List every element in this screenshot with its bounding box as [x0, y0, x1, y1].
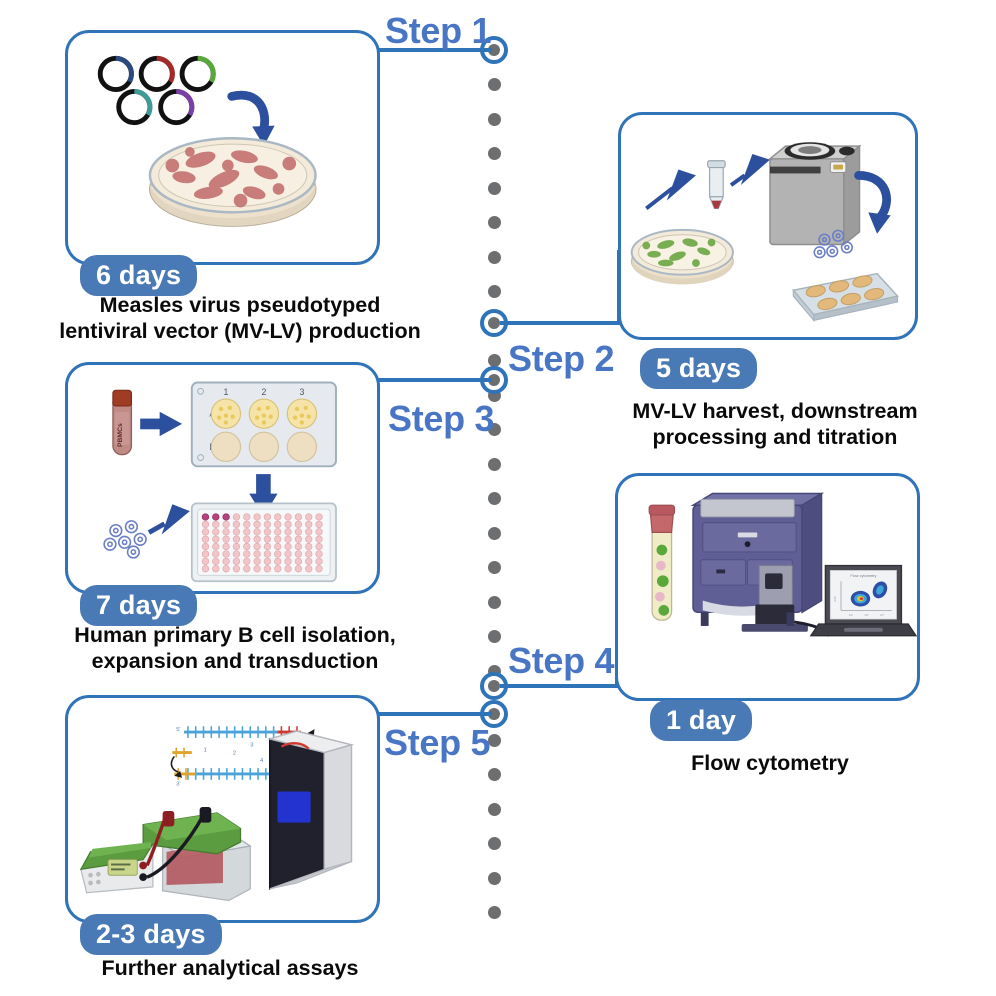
svg-text:1: 1: [204, 748, 207, 754]
badge-step5-duration: 2-3 days: [80, 914, 222, 955]
qpcr-instrument: [270, 731, 352, 889]
microcentrifuge-tube: [708, 161, 726, 209]
timeline-dot: [488, 78, 501, 91]
svg-text:3': 3': [176, 782, 180, 788]
virus-particles: [104, 521, 146, 558]
timeline-dot: [488, 113, 501, 126]
step-label-3: Step 3: [388, 398, 494, 440]
step-label-4: Step 4: [508, 640, 614, 682]
arrow-tube-to-centrifuge: [731, 154, 770, 185]
petri-dish-green-cells: [632, 230, 733, 285]
panel-step4: Flow cytometry 10²10³10⁴ SSC: [615, 473, 920, 701]
step4-illustration: Flow cytometry 10²10³10⁴ SSC: [618, 476, 917, 698]
timeline-dot: [488, 665, 501, 678]
svg-text:3: 3: [299, 387, 304, 397]
caption-step5: Further analytical assays: [10, 955, 450, 981]
step1-illustration: [68, 33, 377, 262]
svg-text:3: 3: [250, 743, 253, 749]
svg-text:SSC: SSC: [833, 596, 837, 602]
arrow-dish-to-tube: [646, 170, 696, 209]
caption-step2: MV-LV harvest, downstream processing and…: [575, 398, 975, 450]
svg-text:10²: 10²: [849, 613, 853, 617]
connector-step3: [376, 378, 492, 382]
arrow-tube-to-plate: [140, 412, 182, 436]
timeline-dot: [488, 458, 501, 471]
timeline-dot: [488, 182, 501, 195]
ninety-six-well-plate: [192, 503, 336, 581]
caption-step1: Measles virus pseudotyped lentiviral vec…: [10, 292, 470, 344]
timeline-dot: [488, 561, 501, 574]
caption-step3: Human primary B cell isolation, expansio…: [10, 622, 460, 674]
step5-illustration: 5'3' 1234: [68, 698, 377, 920]
svg-text:5': 5': [176, 727, 180, 733]
svg-text:1: 1: [223, 387, 228, 397]
connector-step4: [500, 684, 618, 688]
step-label-2: Step 2: [508, 338, 614, 380]
step3-illustration: PBMCs 1 2 3 A B: [68, 365, 377, 591]
timeline-dot: [488, 768, 501, 781]
svg-text:2: 2: [233, 750, 236, 756]
centrifuge: [770, 142, 860, 244]
electrophoresis-tank: [143, 807, 250, 900]
panel-step3: PBMCs 1 2 3 A B: [65, 362, 380, 594]
timeline-dot: [488, 837, 501, 850]
timeline-dot: [488, 803, 501, 816]
arrow-virions-to-plate: [149, 504, 190, 534]
connector-step2: [500, 321, 620, 325]
power-supply: [81, 842, 153, 893]
step-label-5: Step 5: [384, 722, 490, 764]
panel-step5: 5'3' 1234: [65, 695, 380, 923]
panel-step1: [65, 30, 380, 265]
step2-illustration: [621, 115, 915, 337]
timeline-dot: [488, 285, 501, 298]
badge-step3-duration: 7 days: [80, 585, 197, 626]
svg-text:10⁴: 10⁴: [880, 613, 885, 617]
timeline-dot: [488, 251, 501, 264]
workflow-figure: 6 days Step 1 Measles virus pseudotyped …: [0, 0, 996, 996]
step-label-1: Step 1: [385, 10, 491, 52]
svg-text:PBMCs: PBMCs: [117, 423, 124, 447]
panel-step2: [618, 112, 918, 340]
timeline-dot: [488, 906, 501, 919]
svg-text:4: 4: [260, 758, 264, 764]
timeline-dot: [488, 354, 501, 367]
six-well-plate: 1 2 3 A B: [192, 383, 336, 467]
badge-step1-duration: 6 days: [80, 255, 197, 296]
sample-tube: [649, 505, 674, 620]
svg-text:10³: 10³: [864, 613, 868, 617]
timeline-dot: [488, 492, 501, 505]
curved-arrow-icon-2: [859, 175, 891, 233]
six-well-plate: [793, 274, 897, 321]
timeline-dot: [488, 630, 501, 643]
timeline-dot: [488, 147, 501, 160]
connector-step5: [376, 712, 492, 716]
badge-step4-duration: 1 day: [650, 700, 752, 741]
svg-text:2: 2: [261, 387, 266, 397]
laptop-with-dotplot: Flow cytometry 10²10³10⁴ SSC: [811, 566, 916, 636]
timeline-dot: [488, 216, 501, 229]
flow-cytometer: [693, 494, 829, 636]
timeline-dot: [488, 527, 501, 540]
plasmid-rings: [100, 58, 213, 122]
svg-text:Flow cytometry: Flow cytometry: [850, 573, 876, 578]
petri-dish-adherent-cells: [150, 138, 316, 226]
caption-step4: Flow cytometry: [600, 750, 940, 776]
timeline-dot: [488, 596, 501, 609]
badge-step2-duration: 5 days: [640, 348, 757, 389]
timeline-dot: [488, 872, 501, 885]
blood-collection-tube: PBMCs: [113, 390, 132, 454]
